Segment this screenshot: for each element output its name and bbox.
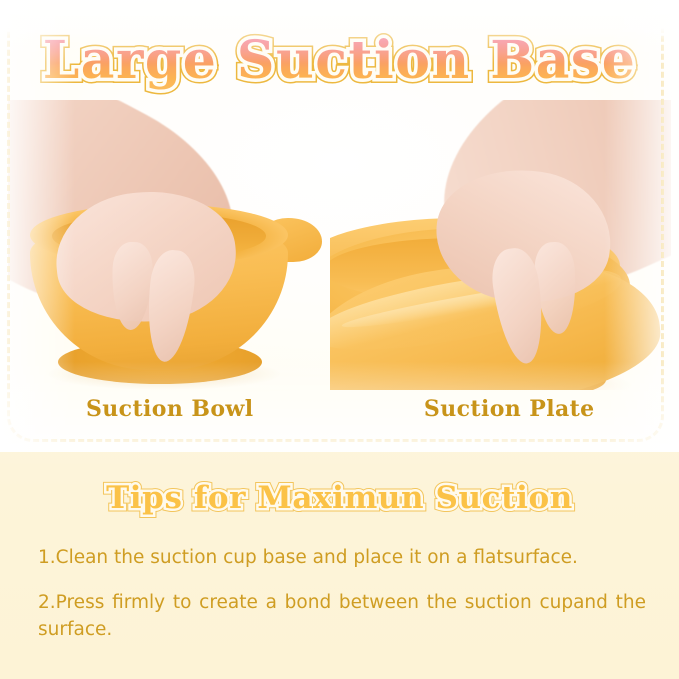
product-captions: Suction Bowl Suction Plate [0, 396, 679, 422]
product-infographic: Large Suction Base Large Suction Base La… [0, 0, 679, 679]
caption-suction-plate: Suction Plate [340, 396, 679, 422]
tip-item-1: 1.Clean the suction cup base and place i… [38, 545, 646, 571]
suction-bowl-photo [8, 100, 338, 390]
page-title-text: Large Suction Base Large Suction Base La… [43, 33, 637, 89]
page-title: Large Suction Base Large Suction Base La… [0, 33, 679, 89]
tips-heading-text: Tips for Maximun Suction Tips for Maximu… [106, 480, 573, 516]
page-title-fill: Large Suction Base [43, 30, 637, 91]
tips-heading: Tips for Maximun Suction Tips for Maximu… [0, 480, 679, 516]
tips-list: 1.Clean the suction cup base and place i… [38, 545, 646, 662]
caption-suction-bowl: Suction Bowl [0, 396, 340, 422]
tips-heading-fill: Tips for Maximun Suction [106, 480, 573, 516]
suction-plate-photo [330, 100, 671, 390]
tip-item-2: 2.Press firmly to create a bond between … [38, 590, 646, 643]
